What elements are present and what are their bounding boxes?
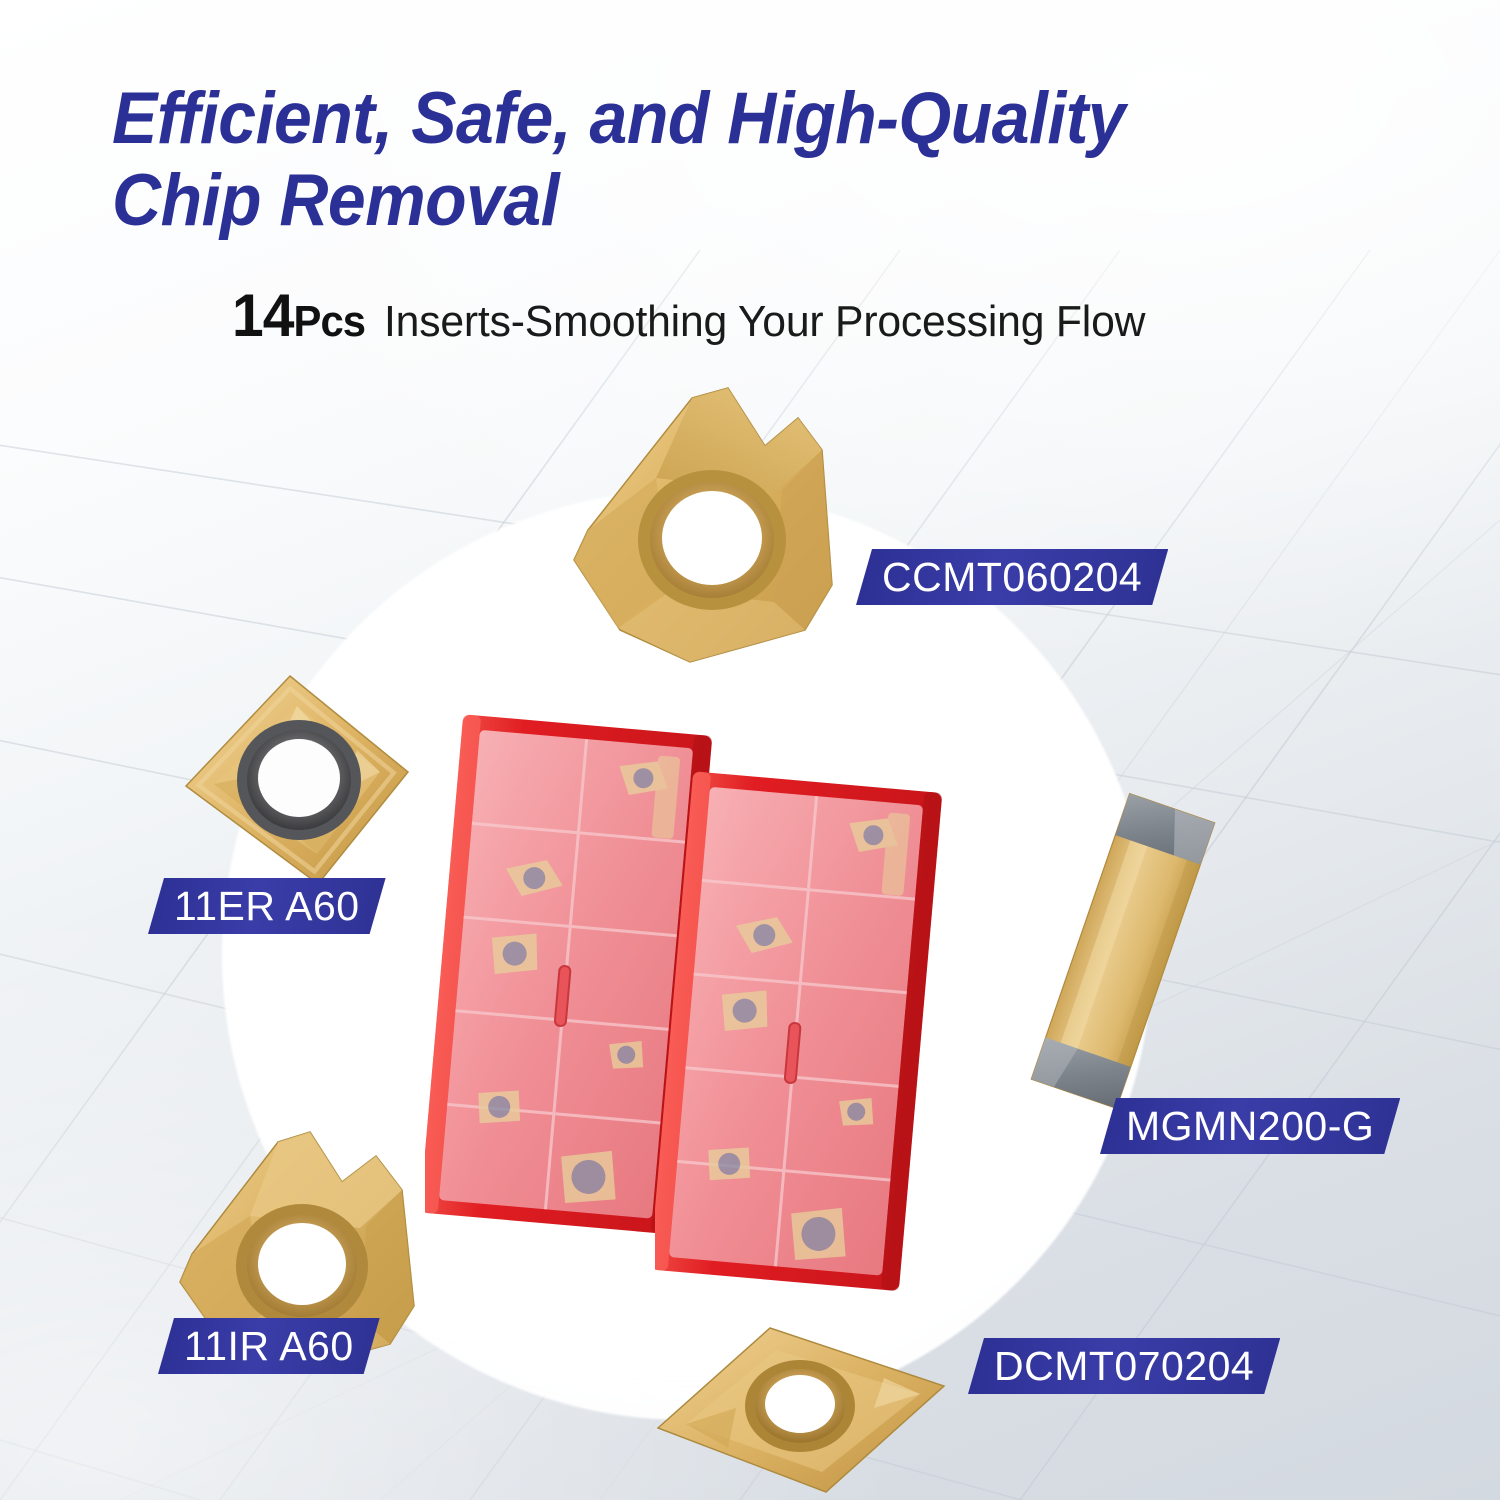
callout-dcmt070204[interactable]: DCMT070204: [968, 1338, 1280, 1394]
callout-11er-a60[interactable]: 11ER A60: [148, 878, 386, 934]
piece-count: 14Pcs: [232, 286, 365, 352]
rhombic-carbide-insert-icon: [172, 662, 432, 897]
headline-line-2: Chip Removal: [112, 160, 1284, 242]
callout-mgmn200-g[interactable]: MGMN200-G: [1100, 1098, 1400, 1154]
grooving-blade-insert-icon: [1008, 786, 1238, 1116]
subheading-text: Inserts-Smoothing Your Processing Flow: [384, 298, 1145, 346]
subheading: 14Pcs Inserts-Smoothing Your Processing …: [232, 286, 1169, 352]
triangular-threading-insert-icon: [560, 380, 890, 690]
callout-ccmt060204[interactable]: CCMT060204: [856, 549, 1168, 605]
headline-line-1: Efficient, Safe, and High-Quality: [112, 78, 1284, 160]
page-title: Efficient, Safe, and High-Quality Chip R…: [112, 78, 1284, 242]
red-insert-case-icon: [655, 762, 955, 1302]
callout-11ir-a60[interactable]: 11IR A60: [158, 1318, 380, 1374]
piece-count-unit: Pcs: [294, 297, 366, 346]
rhombic-carbide-insert-icon: [648, 1322, 948, 1500]
product-marketing-image: Efficient, Safe, and High-Quality Chip R…: [0, 0, 1500, 1500]
piece-count-number: 14: [232, 282, 294, 349]
